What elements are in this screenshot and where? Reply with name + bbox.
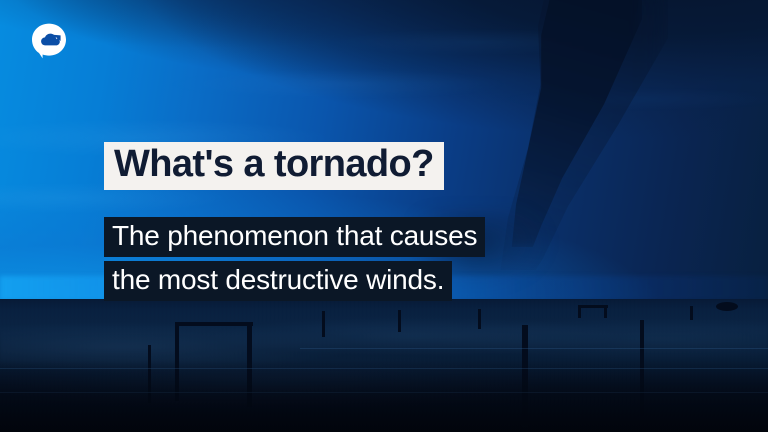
video-frame: What's a tornado? The phenomenon that ca… — [0, 0, 768, 432]
fence-rail — [578, 305, 608, 308]
fence-post — [690, 306, 693, 320]
fence-post — [478, 309, 481, 329]
subtitle-line-2: the most destructive winds. — [104, 261, 452, 301]
fence-wire — [300, 348, 768, 349]
weather-cloud-speech-bubble-logo-icon — [30, 22, 68, 60]
fence-post — [322, 311, 325, 337]
distant-tree — [716, 302, 738, 311]
brand-logo[interactable] — [30, 22, 68, 60]
page-title: What's a tornado? — [114, 145, 434, 183]
subtitle-line-1: The phenomenon that causes — [104, 217, 485, 257]
fence-post — [398, 310, 401, 332]
foreground-shadow — [0, 360, 768, 432]
fence-rail — [175, 322, 253, 326]
subtitle-block: The phenomenon that causes the most dest… — [104, 217, 485, 301]
headline-highlight: What's a tornado? — [104, 142, 444, 190]
